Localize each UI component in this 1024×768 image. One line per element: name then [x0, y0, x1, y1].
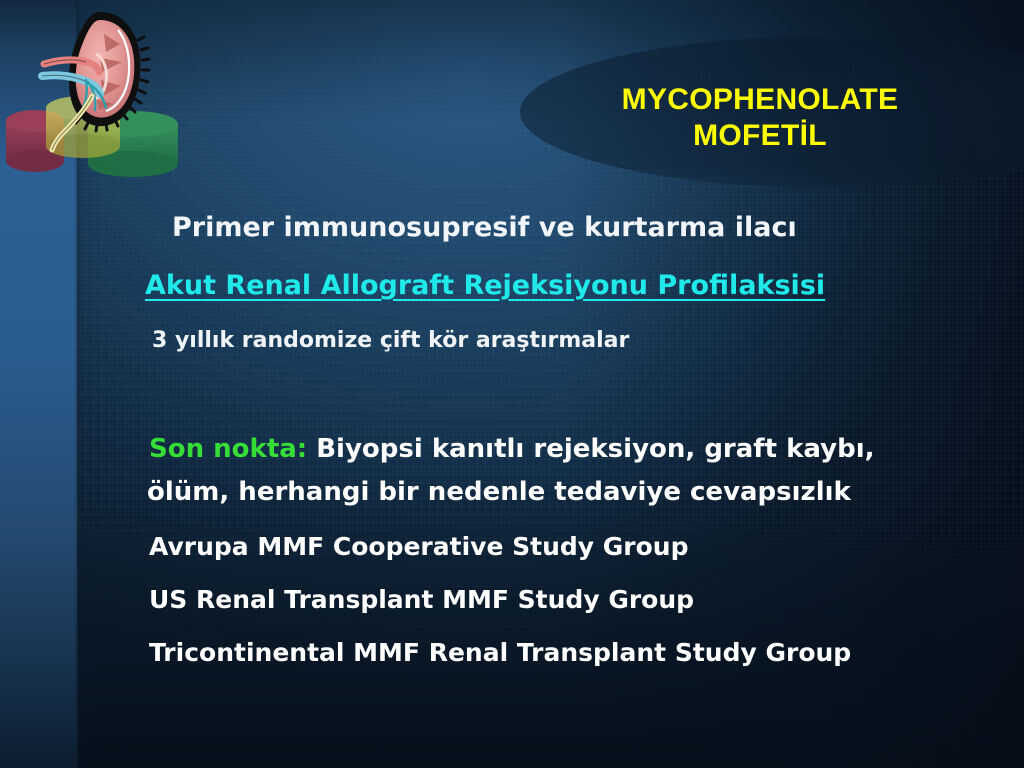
slide-title: MYCOPHENOLATE MOFETİL — [520, 82, 1000, 154]
study-detail-text: 3 yıllık randomize çift kör araştırmalar — [152, 328, 629, 353]
study-group-item: US Renal Transplant MMF Study Group — [149, 585, 694, 614]
study-group-item: Tricontinental MMF Renal Transplant Stud… — [149, 638, 851, 667]
presentation-slide: MYCOPHENOLATE MOFETİL Primer immunosupre… — [0, 0, 1024, 768]
kidney-on-cylinders-logo — [0, 0, 200, 190]
underlined-heading: Akut Renal Allograft Rejeksiyonu Profila… — [145, 270, 825, 301]
endpoint-line-2: ölüm, herhangi bir nedenle tedaviye ceva… — [147, 477, 851, 507]
endpoint-text-part-1: Biyopsi kanıtlı rejeksiyon, graft kaybı, — [307, 434, 874, 464]
slide-title-line-2: MOFETİL — [520, 118, 1000, 154]
endpoint-line-1: Son nokta: Biyopsi kanıtlı rejeksiyon, g… — [149, 434, 874, 464]
slide-title-line-1: MYCOPHENOLATE — [520, 82, 1000, 118]
subtitle-text: Primer immunosupresif ve kurtarma ilacı — [172, 212, 797, 243]
endpoint-label: Son nokta: — [149, 434, 307, 464]
study-group-item: Avrupa MMF Cooperative Study Group — [149, 532, 688, 561]
